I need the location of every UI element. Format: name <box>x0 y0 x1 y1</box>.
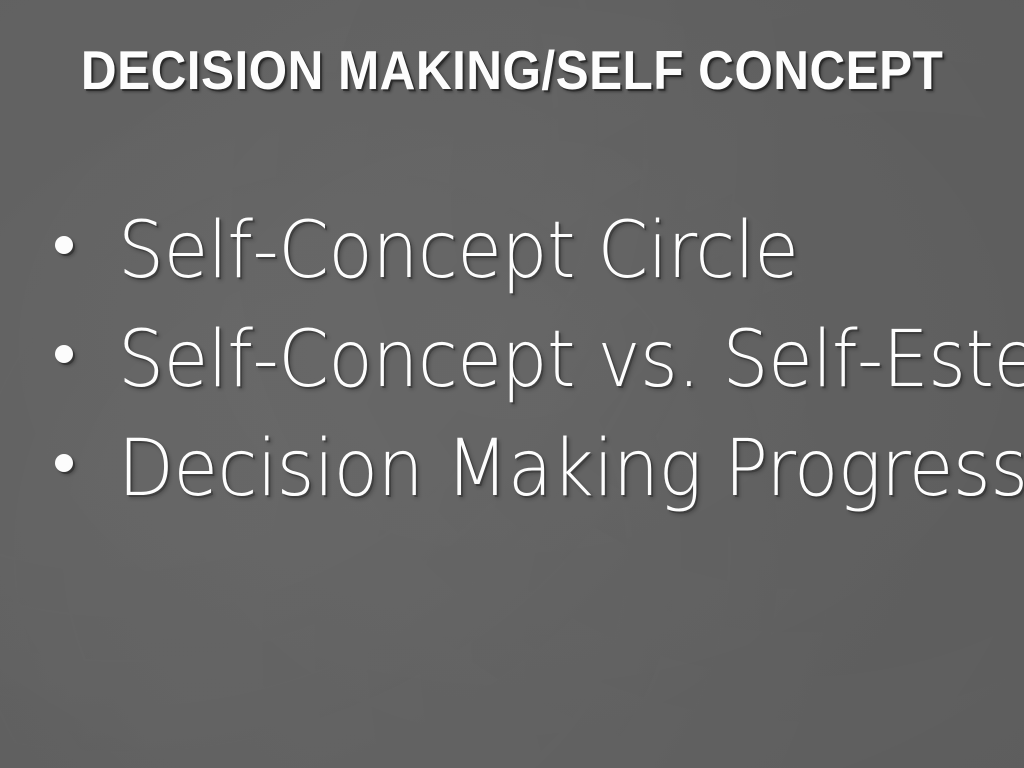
bullet-item-label: Decision Making Progress <box>118 426 1024 512</box>
slide-title: Decision Making/Self Concept <box>81 42 943 98</box>
bullet-item-3: Decision Making Progress <box>0 414 1024 523</box>
title-block: Decision Making/Self Concept <box>0 42 1024 98</box>
bullet-item-label: Self-Concept vs. Self-Esteem <box>118 317 1024 403</box>
bullet-dot-icon <box>55 454 73 472</box>
bullet-item-label: Self-Concept Circle <box>118 208 798 294</box>
presentation-slide: Decision Making/Self Concept Self-Concep… <box>0 0 1024 768</box>
bullet-item-1: Self-Concept Circle <box>0 196 1024 305</box>
bullet-dot-icon <box>55 345 73 363</box>
bullet-item-2: Self-Concept vs. Self-Esteem <box>0 305 1024 414</box>
bullet-dot-icon <box>55 236 73 254</box>
bullet-list: Self-Concept Circle Self-Concept vs. Sel… <box>0 196 1024 523</box>
